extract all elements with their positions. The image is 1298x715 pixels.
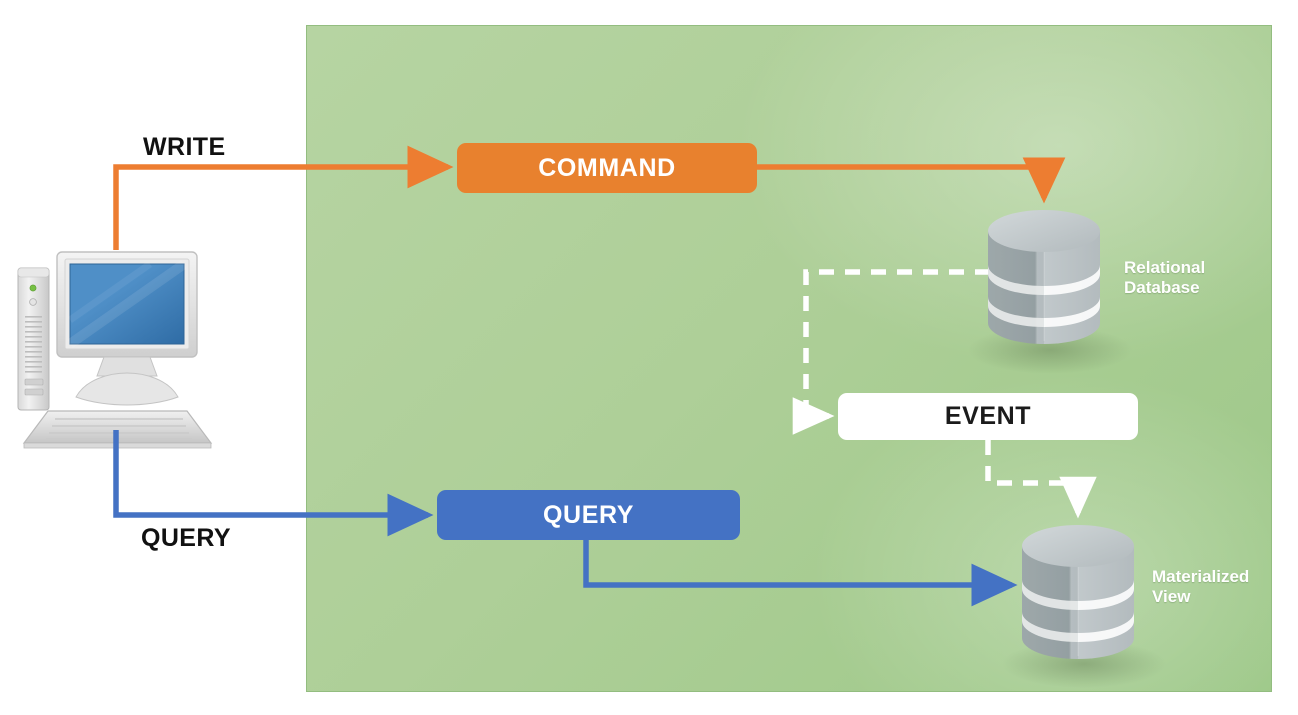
diagram-canvas: WRITE QUERY COMMAND EVENT QUERY Relation…	[0, 0, 1298, 715]
relational-database-label: Relational Database	[1124, 258, 1205, 298]
query-edge-label: QUERY	[141, 524, 231, 553]
query-node[interactable]: QUERY	[437, 490, 740, 540]
write-edge-label: WRITE	[143, 133, 226, 162]
command-node[interactable]: COMMAND	[457, 143, 757, 193]
event-node[interactable]: EVENT	[838, 393, 1138, 440]
computer-keyboard-icon	[24, 411, 211, 448]
computer-monitor-icon	[57, 252, 197, 405]
computer-tower-icon	[18, 268, 49, 410]
client-workstation-icon	[18, 252, 211, 448]
materialized-view-label: Materialized View	[1152, 567, 1249, 607]
service-boundary-panel	[306, 25, 1272, 692]
